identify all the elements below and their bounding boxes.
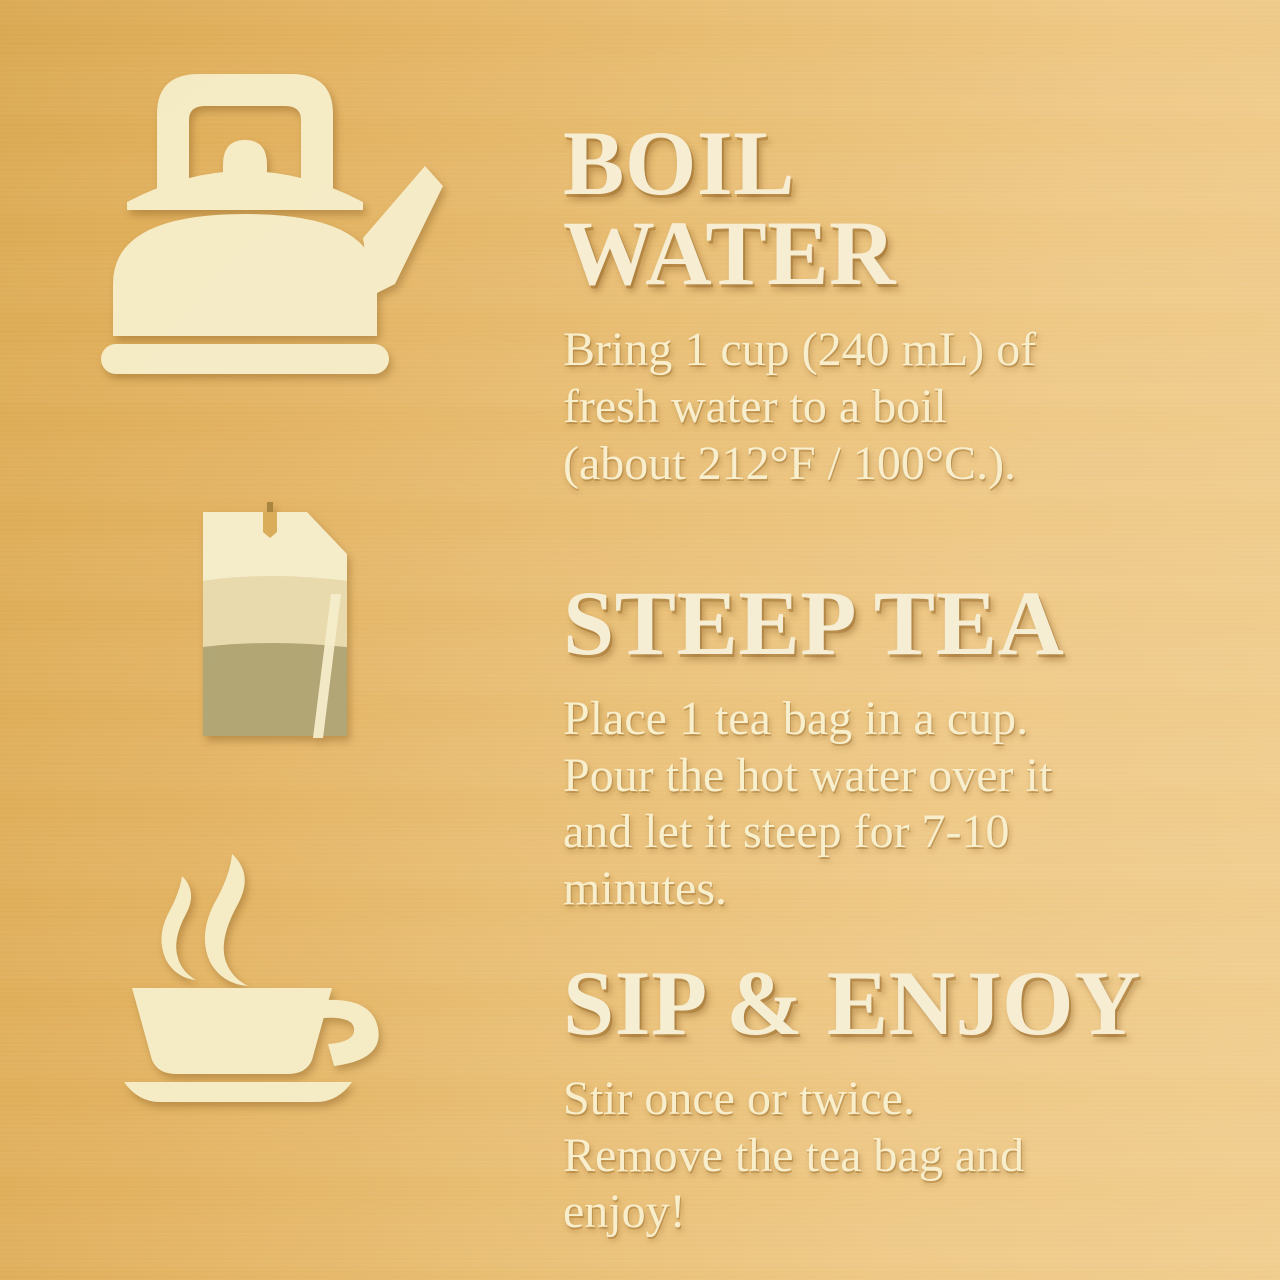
step-2-text: STEEP TEA Place 1 tea bag in a cup. Pour… xyxy=(563,578,1203,918)
body-line: Remove the tea bag and xyxy=(563,1128,1203,1185)
heading-line: WATER xyxy=(563,208,1203,298)
heading-line: SIP & ENJOY xyxy=(563,958,1203,1049)
tea-brewing-infographic: BOIL WATER Bring 1 cup (240 mL) of fresh… xyxy=(0,0,1280,1280)
body-line: Bring 1 cup (240 mL) of xyxy=(563,322,1203,379)
step-1-heading: BOIL WATER xyxy=(563,118,1203,298)
step-1-body: Bring 1 cup (240 mL) of fresh water to a… xyxy=(563,322,1203,492)
body-line: Pour the hot water over it xyxy=(563,748,1203,805)
kettle-icon xyxy=(95,62,445,382)
body-line: fresh water to a boil xyxy=(563,379,1203,436)
step-3-text: SIP & ENJOY Stir once or twice. Remove t… xyxy=(563,958,1203,1241)
body-line: enjoy! xyxy=(563,1184,1203,1241)
step-2-heading: STEEP TEA xyxy=(563,578,1203,669)
body-line: Place 1 tea bag in a cup. xyxy=(563,691,1203,748)
tea-cup-icon xyxy=(120,848,420,1103)
steam-wisp-left xyxy=(161,876,196,980)
step-2-body: Place 1 tea bag in a cup. Pour the hot w… xyxy=(563,691,1203,918)
step-1-icon-container xyxy=(0,62,540,382)
body-line: (about 212°F / 100°C.). xyxy=(563,436,1203,493)
heading-line: BOIL xyxy=(563,118,1203,208)
body-line: minutes. xyxy=(563,861,1203,918)
body-line: Stir once or twice. xyxy=(563,1071,1203,1128)
body-line: and let it steep for 7-10 xyxy=(563,804,1203,861)
step-2-icon-container xyxy=(0,498,540,758)
tea-bag-icon xyxy=(155,498,385,753)
steam-wisp-right xyxy=(205,854,248,986)
step-3-heading: SIP & ENJOY xyxy=(563,958,1203,1049)
step-3-body: Stir once or twice. Remove the tea bag a… xyxy=(563,1071,1203,1241)
heading-line: STEEP TEA xyxy=(563,578,1203,669)
step-3-icon-container xyxy=(0,848,540,1108)
step-1-text: BOIL WATER Bring 1 cup (240 mL) of fresh… xyxy=(563,118,1203,492)
